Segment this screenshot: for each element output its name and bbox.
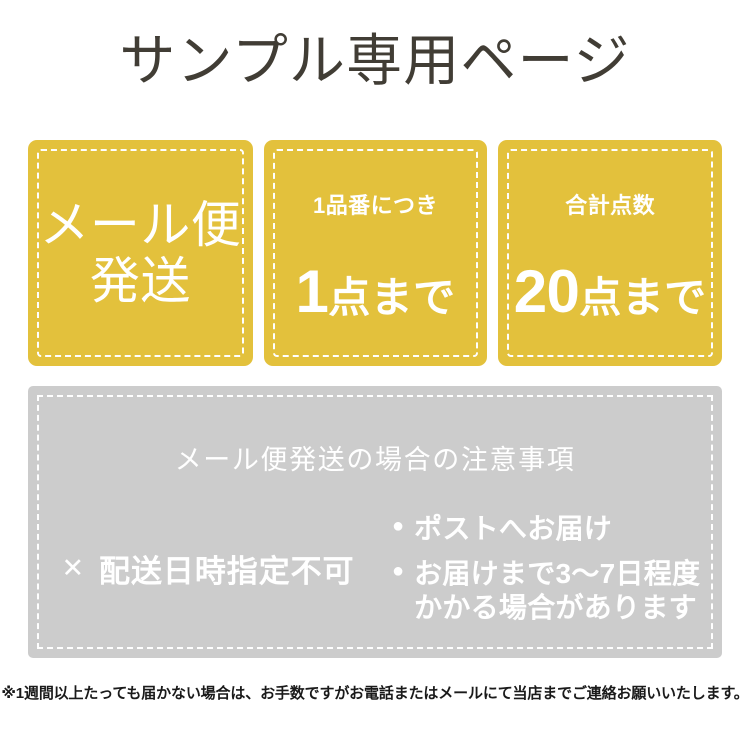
card-total-limit: 合計点数 20 点まで [498, 140, 722, 366]
bullet-dot-icon: ● [392, 512, 404, 541]
card-shipping-method-line2: 発送 [90, 253, 191, 309]
notice-bullet-line1: お届けまで3〜7日程度 [414, 558, 700, 589]
card-per-item-limit-unit: 点まで [328, 277, 455, 319]
cross-icon: ✕ [61, 553, 85, 584]
notice-bullet-list: ● ポストへお届け ● お届けまで3〜7日程度 かかる場合があります [388, 512, 722, 625]
card-total-limit-unit: 点まで [579, 277, 706, 319]
card-total-limit-heading: 合計点数 [565, 188, 655, 220]
card-per-item-limit-content: 1品番につき 1 点まで [264, 140, 488, 366]
footnote: ※1週間以上たっても届かない場合は、お手数ですがお電話またはメールにて当店までご… [0, 682, 750, 703]
notice-no-date-designation-label: 配送日時指定不可 [99, 546, 354, 591]
notice-bullet-line1: ポストへお届け [414, 513, 612, 544]
card-per-item-limit-heading: 1品番につき [313, 188, 438, 220]
notice-bullet-text: お届けまで3〜7日程度 かかる場合があります [414, 557, 700, 624]
card-shipping-method-content: メール便 発送 [28, 140, 253, 366]
notice-bullet-text: ポストへお届け [414, 512, 612, 546]
card-shipping-method-line1: メール便 [39, 197, 241, 253]
card-per-item-limit-number: 1 [295, 262, 328, 322]
card-per-item-limit-amount: 1 点まで [295, 262, 455, 322]
sample-shipping-banner: サンプル専用ページ メール便 発送 1品番につき 1 点まで 合計点数 [0, 0, 750, 750]
card-total-limit-amount: 20 点まで [514, 262, 707, 322]
notice-body: ✕ 配送日時指定不可 ● ポストへお届け ● お届けまで3〜7日程度 かかる場合… [28, 496, 722, 640]
shipping-cards-row: メール便 発送 1品番につき 1 点まで 合計点数 20 点まで [28, 140, 722, 366]
notice-title: メール便発送の場合の注意事項 [28, 438, 722, 477]
card-total-limit-number: 20 [514, 262, 580, 322]
page-title: サンプル専用ページ [0, 30, 750, 92]
notice-panel: メール便発送の場合の注意事項 ✕ 配送日時指定不可 ● ポストへお届け ● お届… [28, 386, 722, 658]
notice-bullet-item: ● ポストへお届け [392, 512, 722, 546]
notice-bullet-line2: かかる場合があります [414, 591, 700, 625]
bullet-dot-icon: ● [392, 557, 404, 586]
card-per-item-limit: 1品番につき 1 点まで [264, 140, 488, 366]
card-total-limit-content: 合計点数 20 点まで [498, 140, 722, 366]
notice-no-date-designation: ✕ 配送日時指定不可 [28, 546, 388, 591]
card-shipping-method: メール便 発送 [28, 140, 253, 366]
notice-bullet-item: ● お届けまで3〜7日程度 かかる場合があります [392, 557, 722, 624]
